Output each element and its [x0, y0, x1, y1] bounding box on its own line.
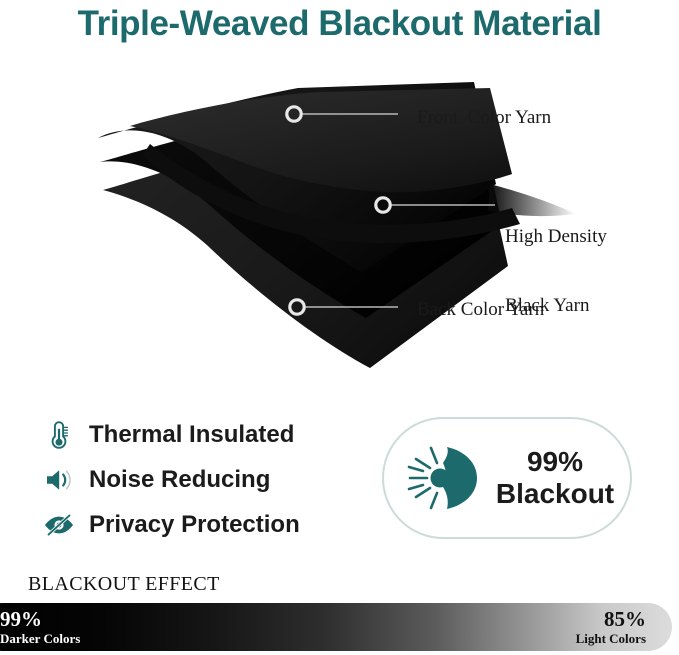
effect-darker-colors-group: 99% Darker Colors [0, 608, 80, 647]
blackout-percent: 99% [486, 446, 624, 478]
speaker-sound-icon [40, 463, 78, 497]
blackout-effect-heading: BLACKOUT EFFECT [28, 572, 220, 596]
effect-left-percent: 99% [0, 608, 80, 631]
callout-label-front-color-yarn: Front Color Yarn [417, 106, 551, 129]
callout-label-line-1: High Density [505, 225, 607, 248]
feature-item-thermal-insulated: Thermal Insulated [40, 412, 370, 457]
page-title: Triple-Weaved Blackout Material [0, 2, 679, 46]
feature-item-privacy-protection: Privacy Protection [40, 502, 370, 547]
sun-blocked-by-curtain-icon [400, 439, 486, 517]
effect-light-colors-group: 85% Light Colors [576, 608, 646, 647]
feature-item-noise-reducing: Noise Reducing [40, 457, 370, 502]
effect-right-caption: Light Colors [576, 631, 646, 647]
effect-right-percent: 85% [576, 608, 646, 631]
blackout-effect-gradient-bar: 99% Darker Colors 85% Light Colors [0, 603, 672, 651]
feature-label: Noise Reducing [89, 466, 270, 494]
blackout-label: Blackout [486, 478, 624, 510]
blackout-badge: 99% Blackout [382, 417, 632, 539]
feature-label: Thermal Insulated [89, 421, 294, 449]
effect-left-caption: Darker Colors [0, 631, 80, 647]
blackout-badge-text: 99% Blackout [486, 446, 630, 510]
thermometer-icon [40, 418, 78, 452]
callout-label-back-color-yarn: Back Color Yarn [417, 298, 544, 321]
eye-slash-icon [40, 508, 78, 542]
feature-label: Privacy Protection [89, 511, 300, 539]
feature-list: Thermal Insulated Noise Reducing Privacy… [40, 412, 370, 547]
